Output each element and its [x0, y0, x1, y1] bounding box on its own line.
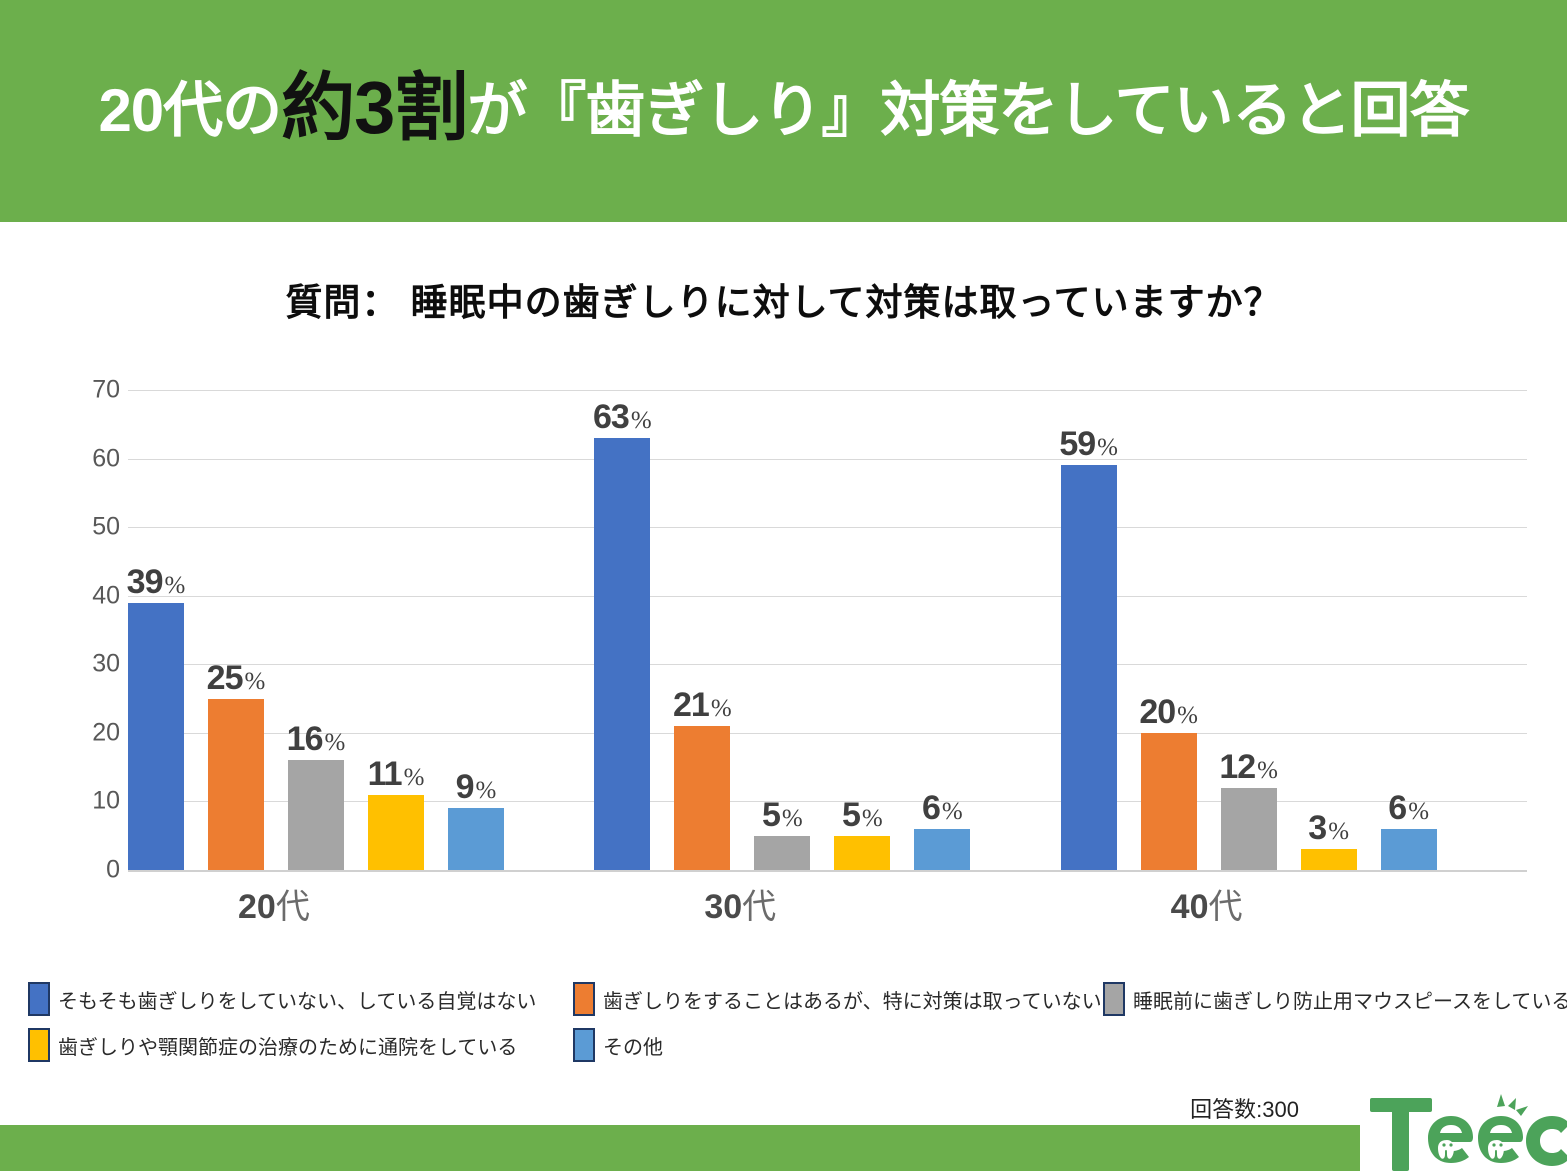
legend-label: 歯ぎしりをすることはあるが、特に対策は取っていない — [603, 985, 1102, 1014]
x-axis-category-number: 40 — [1171, 888, 1209, 926]
bar-value-number: 20 — [1139, 693, 1175, 731]
x-axis-category-number: 20 — [238, 888, 276, 926]
legend-label: 歯ぎしりや顎関節症の治療のために通院をしている — [58, 1031, 517, 1060]
headline-part-emphasis: 約3割 — [281, 71, 467, 145]
bar-value-label: 5% — [842, 798, 883, 832]
bar[interactable]: 21% — [674, 726, 730, 870]
bar-slot: 3% — [1301, 390, 1357, 870]
bar-value-number: 11 — [368, 755, 402, 793]
page-headline: 20代の 約3割 が『歯ぎしり』対策をしていると回答 — [0, 0, 1567, 222]
bar-value-number: 39 — [127, 563, 163, 601]
bar-value-number: 21 — [673, 686, 709, 724]
bar[interactable]: 3% — [1301, 849, 1357, 870]
bar[interactable]: 25% — [208, 699, 264, 870]
bar-value-unit: % — [325, 729, 346, 756]
x-axis-category-label: 30代 — [594, 890, 1060, 950]
legend-swatch — [573, 982, 595, 1016]
bar-value-unit: % — [1328, 818, 1349, 845]
bar-value-number: 5 — [762, 796, 780, 834]
legend-label: 睡眠前に歯ぎしり防止用マウスピースをしている — [1133, 985, 1567, 1014]
y-axis: 010203040506070 — [60, 390, 120, 870]
bar-slot: 25% — [208, 390, 264, 870]
bar-value-number: 5 — [842, 796, 860, 834]
bar-value-number: 3 — [1308, 809, 1326, 847]
footer-bar — [0, 1125, 1360, 1171]
x-axis-category-number: 30 — [704, 888, 742, 926]
bar-slot: 5% — [754, 390, 810, 870]
legend-label: そもそも歯ぎしりをしていない、している自覚はない — [58, 985, 536, 1014]
x-axis: 20代30代40代 — [128, 890, 1527, 950]
bar[interactable]: 39% — [128, 603, 184, 870]
bar-slot: 16% — [288, 390, 344, 870]
bar-value-label: 6% — [1388, 791, 1429, 825]
bar-slot: 9% — [448, 390, 504, 870]
y-axis-tick: 60 — [60, 444, 120, 473]
bar-value-label: 59% — [1059, 427, 1118, 461]
y-axis-tick: 70 — [60, 376, 120, 405]
bar[interactable]: 12% — [1221, 788, 1277, 870]
y-axis-tick: 40 — [60, 581, 120, 610]
y-axis-tick: 20 — [60, 718, 120, 747]
bar[interactable]: 63% — [594, 438, 650, 870]
bar-slot: 59% — [1061, 390, 1117, 870]
bar-value-number: 59 — [1059, 425, 1095, 463]
bar-groups: 39%25%16%11%9%63%21%5%5%6%59%20%12%3%6% — [128, 390, 1527, 870]
bar[interactable]: 5% — [834, 836, 890, 870]
bar-value-label: 21% — [673, 688, 732, 722]
legend-item[interactable]: 歯ぎしりや顎関節症の治療のために通院をしている — [28, 1028, 573, 1062]
bar-value-unit: % — [1177, 702, 1198, 729]
legend-row-1: そもそも歯ぎしりをしていない、している自覚はない歯ぎしりをすることはあるが、特に… — [28, 982, 1558, 1016]
bar-value-label: 6% — [922, 791, 963, 825]
bar-slot: 39% — [128, 390, 184, 870]
bar-value-unit: % — [476, 777, 497, 804]
bar-value-number: 25 — [207, 659, 243, 697]
bar[interactable]: 11% — [368, 795, 424, 870]
bar[interactable]: 6% — [914, 829, 970, 870]
x-axis-category-unit: 代 — [276, 888, 310, 926]
bar-value-label: 63% — [593, 400, 652, 434]
bar[interactable]: 59% — [1061, 465, 1117, 870]
bar-value-label: 3% — [1308, 811, 1349, 845]
y-axis-tick: 0 — [60, 856, 120, 885]
headline-part-1: 20代の — [98, 81, 281, 141]
bar-value-number: 63 — [593, 398, 629, 436]
legend-item[interactable]: 睡眠前に歯ぎしり防止用マウスピースをしている — [1103, 982, 1558, 1016]
x-axis-category-unit: 代 — [742, 888, 776, 926]
bar-slot: 5% — [834, 390, 890, 870]
bar-value-number: 6 — [1388, 789, 1406, 827]
bar-value-label: 20% — [1139, 695, 1198, 729]
chart-title: 質問： 睡眠中の歯ぎしりに対して対策は取っていますか？ — [0, 272, 1567, 326]
bar-value-label: 12% — [1219, 750, 1278, 784]
bar-slot: 6% — [914, 390, 970, 870]
bar-slot: 6% — [1381, 390, 1437, 870]
bar-value-number: 16 — [287, 720, 323, 758]
bar-value-unit: % — [404, 764, 425, 791]
bar[interactable]: 20% — [1141, 733, 1197, 870]
legend-swatch — [28, 1028, 50, 1062]
bar-value-unit: % — [1408, 798, 1429, 825]
bar-value-number: 9 — [456, 768, 474, 806]
bar[interactable]: 9% — [448, 808, 504, 870]
bar-value-unit: % — [782, 805, 803, 832]
bar-value-unit: % — [165, 572, 186, 599]
bar-group: 39%25%16%11%9% — [128, 390, 594, 870]
x-axis-category-label: 40代 — [1061, 890, 1527, 950]
chart-legend: そもそも歯ぎしりをしていない、している自覚はない歯ぎしりをすることはあるが、特に… — [28, 982, 1558, 1074]
bar-value-label: 16% — [287, 722, 346, 756]
legend-swatch — [1103, 982, 1125, 1016]
headline-part-3: が『歯ぎしり』対策をしていると回答 — [467, 81, 1468, 141]
teech-logo — [1368, 1092, 1567, 1171]
bar-value-label: 39% — [127, 565, 186, 599]
bar-slot: 20% — [1141, 390, 1197, 870]
bar[interactable]: 16% — [288, 760, 344, 870]
bar-group: 63%21%5%5%6% — [594, 390, 1060, 870]
y-axis-tick: 30 — [60, 650, 120, 679]
bar[interactable]: 6% — [1381, 829, 1437, 870]
gridline — [128, 870, 1527, 872]
bar-value-number: 6 — [922, 789, 940, 827]
legend-item[interactable]: 歯ぎしりをすることはあるが、特に対策は取っていない — [573, 982, 1103, 1016]
bar-value-number: 12 — [1219, 748, 1255, 786]
bar-value-unit: % — [862, 805, 883, 832]
bar-slot: 12% — [1221, 390, 1277, 870]
chart-plot-area: 010203040506070 39%25%16%11%9%63%21%5%5%… — [0, 390, 1567, 890]
bar[interactable]: 5% — [754, 836, 810, 870]
bar-value-label: 25% — [207, 661, 266, 695]
legend-swatch — [28, 982, 50, 1016]
legend-swatch — [573, 1028, 595, 1062]
bar-value-unit: % — [631, 407, 652, 434]
bar-value-unit: % — [1257, 757, 1278, 784]
bar-value-label: 11% — [368, 757, 425, 791]
legend-row-2: 歯ぎしりや顎関節症の治療のために通院をしているその他 — [28, 1028, 1558, 1062]
bar-value-label: 9% — [456, 770, 497, 804]
bar-value-unit: % — [245, 668, 266, 695]
bar-slot: 63% — [594, 390, 650, 870]
bar-value-unit: % — [711, 695, 732, 722]
bar-slot: 21% — [674, 390, 730, 870]
bar-group: 59%20%12%3%6% — [1061, 390, 1527, 870]
bar-value-unit: % — [942, 798, 963, 825]
y-axis-tick: 50 — [60, 513, 120, 542]
respondent-count: 回答数:300 — [1190, 1092, 1299, 1124]
legend-item[interactable]: その他 — [573, 1028, 1103, 1062]
bar-slot: 11% — [368, 390, 424, 870]
legend-label: その他 — [603, 1031, 663, 1060]
bar-value-label: 5% — [762, 798, 803, 832]
x-axis-category-unit: 代 — [1208, 888, 1242, 926]
legend-item[interactable]: そもそも歯ぎしりをしていない、している自覚はない — [28, 982, 573, 1016]
x-axis-category-label: 20代 — [128, 890, 594, 950]
y-axis-tick: 10 — [60, 787, 120, 816]
bar-value-unit: % — [1097, 434, 1118, 461]
